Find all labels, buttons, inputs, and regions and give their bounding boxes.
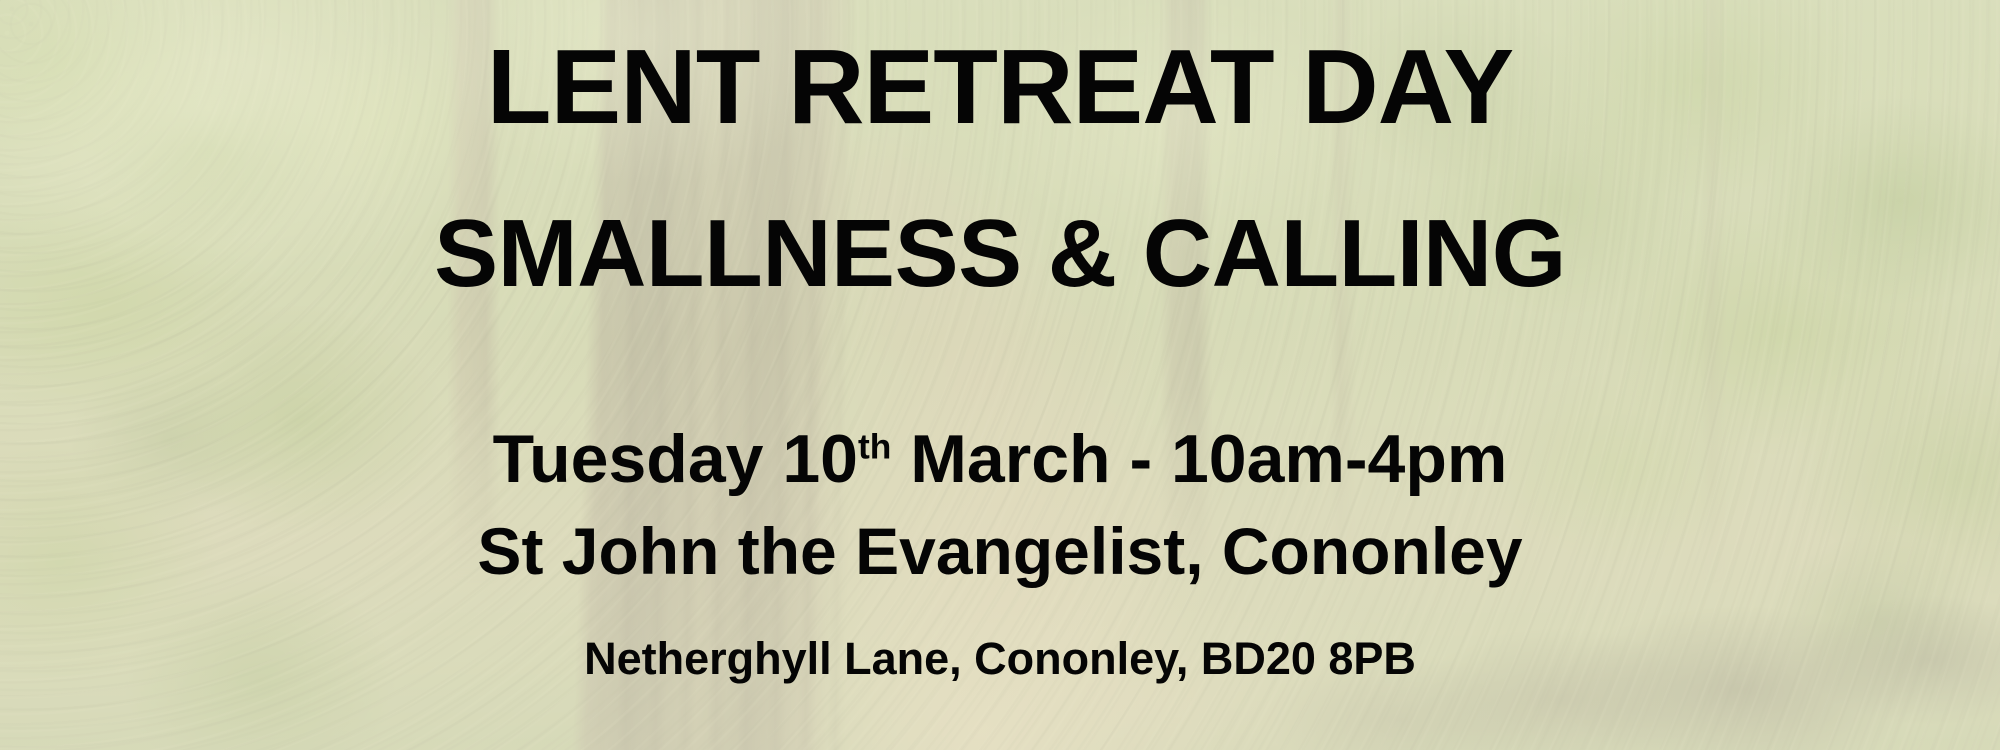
headline-secondary: SMALLNESS & CALLING	[0, 206, 2000, 302]
event-date-ordinal: th	[858, 427, 891, 466]
lent-retreat-banner: LENT RETREAT DAY SMALLNESS & CALLING Tue…	[0, 0, 2000, 750]
event-date-suffix: March - 10am-4pm	[891, 421, 1507, 497]
headline-primary: LENT RETREAT DAY	[0, 34, 2000, 140]
event-date-time: Tuesday 10th March - 10am-4pm	[0, 425, 2000, 493]
event-venue: St John the Evangelist, Cononley	[0, 518, 2000, 584]
event-date-prefix: Tuesday 10	[493, 421, 858, 497]
poster-text-block: LENT RETREAT DAY SMALLNESS & CALLING Tue…	[0, 0, 2000, 750]
event-address: Netherghyll Lane, Cononley, BD20 8PB	[0, 636, 2000, 681]
